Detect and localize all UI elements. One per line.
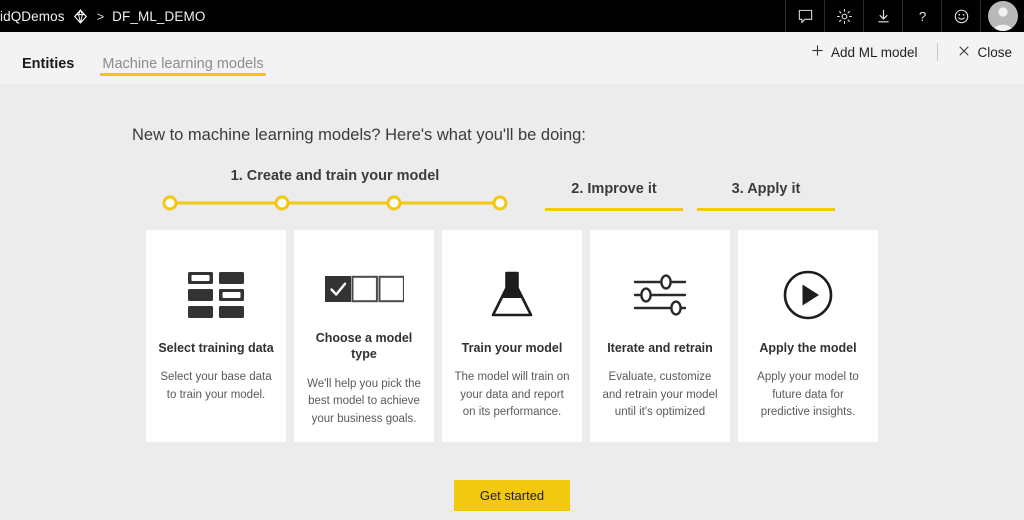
add-ml-model-button[interactable]: Add ML model xyxy=(799,38,930,66)
tab-list: Entities Machine learning models xyxy=(0,32,274,84)
step-2-label: 2. Improve it xyxy=(571,181,656,197)
diamond-icon xyxy=(73,8,89,24)
card-description: We'll help you pick the best model to ac… xyxy=(306,376,422,428)
download-icon[interactable] xyxy=(863,0,902,32)
card-title: Train your model xyxy=(462,340,563,356)
card-description: Apply your model to future data for pred… xyxy=(750,369,866,421)
help-question-icon[interactable]: ? xyxy=(902,0,941,32)
step-1-label: 1. Create and train your model xyxy=(231,168,440,184)
sliders-icon xyxy=(632,264,688,326)
tab-entities[interactable]: Entities xyxy=(20,32,84,84)
card-choose-a-model-type[interactable]: Choose a model type We'll help you pick … xyxy=(294,230,434,442)
breadcrumb: idQDemos > DF_ML_DEMO xyxy=(0,0,205,32)
card-iterate-and-retrain[interactable]: Iterate and retrain Evaluate, customize … xyxy=(590,230,730,442)
card-apply-the-model[interactable]: Apply the model Apply your model to futu… xyxy=(738,230,878,442)
breadcrumb-current[interactable]: DF_ML_DEMO xyxy=(112,9,205,24)
svg-text:?: ? xyxy=(918,8,925,23)
card-description: The model will train on your data and re… xyxy=(454,369,570,421)
progress-line xyxy=(170,202,500,205)
progress-node-4[interactable] xyxy=(493,196,508,211)
step-improve-it: 2. Improve it xyxy=(538,181,690,211)
play-circle-icon xyxy=(782,264,834,326)
checkbox-options-icon xyxy=(324,264,404,316)
command-divider xyxy=(937,43,938,61)
card-title: Choose a model type xyxy=(306,330,422,363)
card-description: Evaluate, customize and retrain your mod… xyxy=(602,369,718,421)
get-started-row: Get started xyxy=(132,480,892,511)
plus-icon xyxy=(811,44,824,60)
card-title: Apply the model xyxy=(759,340,856,356)
breadcrumb-separator: > xyxy=(97,9,105,24)
training-data-grid-icon xyxy=(187,264,245,326)
progress-node-3[interactable] xyxy=(387,196,402,211)
card-title: Iterate and retrain xyxy=(607,340,713,356)
step-create-and-train: 1. Create and train your model xyxy=(132,168,538,211)
topbar-actions: ? xyxy=(785,0,1024,32)
avatar[interactable] xyxy=(980,0,1024,32)
step-3-underline xyxy=(697,208,835,211)
card-title: Select training data xyxy=(158,340,273,356)
add-ml-model-label: Add ML model xyxy=(831,45,918,60)
page-headline: New to machine learning models? Here's w… xyxy=(132,126,892,145)
breadcrumb-workspace[interactable]: idQDemos xyxy=(0,9,65,24)
top-bar: idQDemos > DF_ML_DEMO xyxy=(0,0,1024,32)
tab-entities-label: Entities xyxy=(22,56,74,72)
steps-strip: 1. Create and train your model 2. Improv… xyxy=(132,165,892,211)
step-apply-it: 3. Apply it xyxy=(690,181,842,211)
close-x-icon xyxy=(958,45,970,60)
step-2-underline xyxy=(545,208,683,211)
flask-icon xyxy=(488,264,536,326)
card-description: Select your base data to train your mode… xyxy=(158,369,274,404)
step-cards: Select training data Select your base da… xyxy=(146,230,878,442)
close-label: Close xyxy=(977,45,1012,60)
card-train-your-model[interactable]: Train your model The model will train on… xyxy=(442,230,582,442)
settings-gear-icon[interactable] xyxy=(824,0,863,32)
progress-node-1[interactable] xyxy=(163,196,178,211)
smiley-icon[interactable] xyxy=(941,0,980,32)
command-bar: Entities Machine learning models Add ML … xyxy=(0,32,1024,84)
step-3-label: 3. Apply it xyxy=(732,181,801,197)
progress-node-2[interactable] xyxy=(275,196,290,211)
step-1-progress-track xyxy=(164,195,506,211)
close-button[interactable]: Close xyxy=(946,39,1024,66)
tab-machine-learning-models[interactable]: Machine learning models xyxy=(100,32,273,84)
feedback-icon[interactable] xyxy=(785,0,824,32)
card-select-training-data[interactable]: Select training data Select your base da… xyxy=(146,230,286,442)
tab-machine-learning-models-label: Machine learning models xyxy=(102,56,263,72)
command-actions: Add ML model Close xyxy=(799,32,1024,72)
get-started-button[interactable]: Get started xyxy=(454,480,570,511)
main-content: New to machine learning models? Here's w… xyxy=(0,84,1024,520)
